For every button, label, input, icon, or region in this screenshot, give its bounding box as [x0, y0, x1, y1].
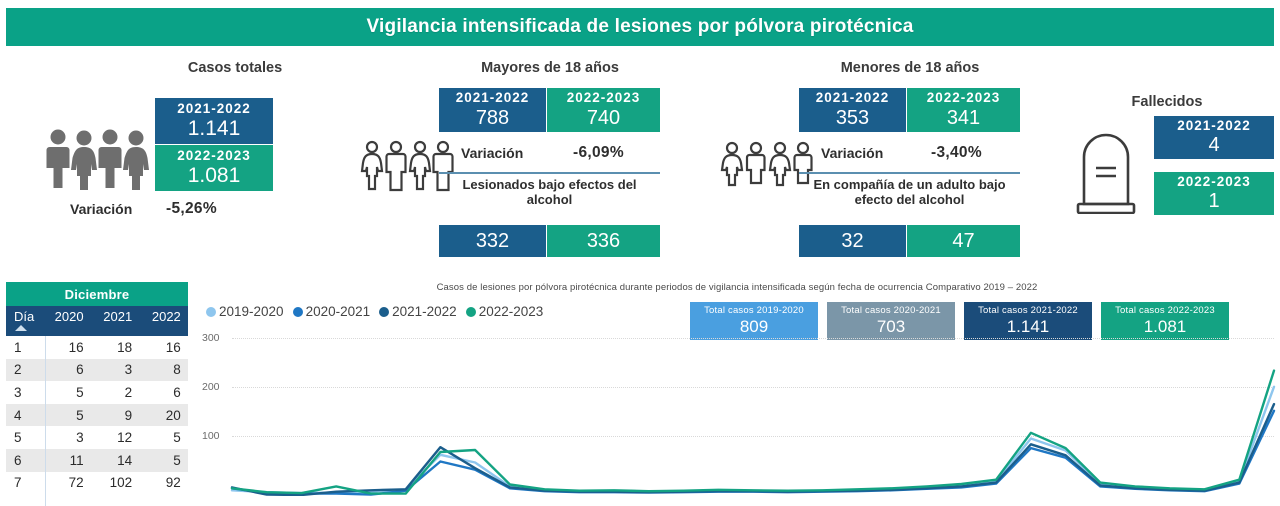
period-value: 788: [476, 107, 509, 130]
mayores-alcohol-2022-2023: 336: [547, 225, 660, 257]
chart-legend: 2019-2020 2020-2021 2021-2022 2022-2023: [206, 304, 543, 319]
cell-dia: 3: [6, 385, 42, 400]
table-column-header-2022[interactable]: 2022: [139, 309, 188, 324]
casos-totales-variation-label: Variación: [70, 201, 132, 217]
table-month-title: Diciembre: [6, 282, 188, 306]
table-column-header-2021[interactable]: 2021: [91, 309, 140, 324]
sort-ascending-icon: [15, 325, 27, 331]
cell-2021: 18: [91, 340, 140, 355]
kpi-total-2020-2021[interactable]: Total casos 2020-2021 703: [827, 302, 955, 340]
diciembre-table: Diciembre Día 2020 2021 2022 1 16 18 16 …: [6, 282, 188, 494]
cell-2021: 102: [91, 475, 140, 490]
fallecidos-block-2022-2023: 2022-2023 1: [1154, 172, 1274, 215]
casos-totales-variation-value: -5,26%: [166, 200, 217, 218]
kpi-label: Total casos 2022-2023: [1115, 306, 1215, 316]
legend-swatch-icon: [466, 307, 476, 317]
period-label: 2021-2022: [456, 90, 530, 106]
casos-totales-title: Casos totales: [100, 60, 370, 76]
mayores-divider: [439, 172, 660, 174]
cell-dia: 2: [6, 362, 42, 377]
table-row[interactable]: 3 5 2 6: [6, 381, 188, 404]
dashboard-header: Vigilancia intensificada de lesiones por…: [6, 8, 1274, 46]
cell-2020: 72: [42, 475, 91, 490]
kpi-label: Total casos 2020-2021: [841, 306, 941, 316]
period-value: 353: [836, 107, 869, 130]
series-2020-2021: [232, 411, 1274, 495]
period-value: 1.141: [188, 117, 241, 141]
menores-variation-value: -3,40%: [931, 144, 982, 162]
period-label: 2021-2022: [816, 90, 890, 106]
legend-swatch-icon: [379, 307, 389, 317]
series-2022-2023: [232, 371, 1274, 494]
cell-dia: 7: [6, 475, 42, 490]
dashboard-page: Vigilancia intensificada de lesiones por…: [0, 0, 1280, 496]
series-2021-2022: [232, 404, 1274, 495]
period-label: 2022-2023: [1177, 174, 1251, 190]
tombstone-icon: [1070, 124, 1142, 219]
table-row[interactable]: 2 6 3 8: [6, 359, 188, 382]
four-people-icon: [42, 128, 150, 195]
table-column-header-dia[interactable]: Día: [6, 309, 42, 324]
cell-2022: 6: [139, 385, 188, 400]
cell-dia: 4: [6, 408, 42, 423]
legend-label: 2020-2021: [306, 304, 371, 319]
period-label: 2021-2022: [1177, 118, 1251, 134]
period-value: 740: [587, 107, 620, 130]
legend-label: 2019-2020: [219, 304, 284, 319]
legend-item-2020-2021[interactable]: 2020-2021: [293, 304, 371, 319]
fallecidos-block-2021-2022: 2021-2022 4: [1154, 116, 1274, 159]
legend-swatch-icon: [206, 307, 216, 317]
kpi-total-2022-2023[interactable]: Total casos 2022-2023 1.081: [1101, 302, 1229, 340]
mayores-block-2021-2022: 2021-2022 788: [439, 88, 546, 132]
kpi-label: Total casos 2019-2020: [704, 306, 804, 316]
period-value: 341: [947, 107, 980, 130]
period-value: 1: [1208, 190, 1219, 213]
menores-divider: [799, 172, 1020, 174]
legend-swatch-icon: [293, 307, 303, 317]
cell-2020: 5: [42, 385, 91, 400]
cell-2020: 6: [42, 362, 91, 377]
menores-block-2022-2023: 2022-2023 341: [907, 88, 1020, 132]
cell-2022: 16: [139, 340, 188, 355]
kpi-label: Total casos 2021-2022: [978, 306, 1078, 316]
legend-label: 2022-2023: [479, 304, 544, 319]
cell-2020: 3: [42, 430, 91, 445]
legend-item-2022-2023[interactable]: 2022-2023: [466, 304, 544, 319]
menores-variation-label: Variación: [821, 145, 883, 161]
table-row[interactable]: 4 5 9 20: [6, 404, 188, 427]
series-2019-2020: [232, 387, 1274, 493]
table-row[interactable]: 7 72 102 92: [6, 472, 188, 495]
cell-2021: 9: [91, 408, 140, 423]
mayores-alcohol-2021-2022: 332: [439, 225, 546, 257]
kpi-value: 1.081: [1144, 317, 1187, 337]
period-value: 1.081: [188, 164, 241, 188]
table-header-row: Día 2020 2021 2022: [6, 306, 188, 336]
table-column-header-2020[interactable]: 2020: [42, 309, 91, 324]
table-row[interactable]: 5 3 12 5: [6, 426, 188, 449]
value: 47: [952, 230, 974, 253]
cell-dia: 6: [6, 453, 42, 468]
page-title: Vigilancia intensificada de lesiones por…: [367, 16, 914, 38]
casos-totales-block-2022-2023: 2022-2023 1.081: [155, 145, 273, 191]
menores-sub-title: En compañía de un adulto bajo efecto del…: [793, 178, 1026, 207]
period-label: 2022-2023: [177, 148, 251, 164]
table-column-divider: [45, 336, 46, 506]
fallecidos-title: Fallecidos: [1060, 94, 1274, 110]
table-row[interactable]: 1 16 18 16: [6, 336, 188, 359]
period-label: 2022-2023: [927, 90, 1001, 106]
column-label: Día: [14, 309, 34, 324]
cell-2022: 20: [139, 408, 188, 423]
kpi-total-2019-2020[interactable]: Total casos 2019-2020 809: [690, 302, 818, 340]
cell-2020: 5: [42, 408, 91, 423]
chart-plot-area: 300 200 100: [196, 338, 1278, 496]
chart-title: Casos de lesiones por pólvora pirotécnic…: [196, 282, 1278, 293]
menores-alcohol-2022-2023: 47: [907, 225, 1020, 257]
menores-block-2021-2022: 2021-2022 353: [799, 88, 906, 132]
period-label: 2021-2022: [177, 101, 251, 117]
kpi-value: 1.141: [1007, 317, 1050, 337]
period-label: 2022-2023: [567, 90, 641, 106]
cell-2020: 16: [42, 340, 91, 355]
line-chart: Casos de lesiones por pólvora pirotécnic…: [196, 276, 1278, 496]
kpi-value: 809: [740, 317, 768, 337]
kpi-total-2021-2022[interactable]: Total casos 2021-2022 1.141: [964, 302, 1092, 340]
chart-series-svg: [196, 338, 1278, 496]
cell-2022: 5: [139, 430, 188, 445]
legend-item-2021-2022[interactable]: 2021-2022: [379, 304, 457, 319]
chart-kpi-row: Total casos 2019-2020 809 Total casos 20…: [690, 302, 1229, 340]
cell-2022: 8: [139, 362, 188, 377]
menores-alcohol-2021-2022: 32: [799, 225, 906, 257]
cell-2021: 3: [91, 362, 140, 377]
mayores-title: Mayores de 18 años: [415, 60, 685, 76]
mayores-block-2022-2023: 2022-2023 740: [547, 88, 660, 132]
cell-2021: 14: [91, 453, 140, 468]
legend-item-2019-2020[interactable]: 2019-2020: [206, 304, 284, 319]
mayores-sub-title: Lesionados bajo efectos del alcohol: [439, 178, 660, 207]
period-value: 4: [1208, 134, 1219, 157]
cell-dia: 5: [6, 430, 42, 445]
casos-totales-block-2021-2022: 2021-2022 1.141: [155, 98, 273, 144]
cell-2022: 5: [139, 453, 188, 468]
value: 332: [476, 230, 509, 253]
value: 336: [587, 230, 620, 253]
kpi-value: 703: [877, 317, 905, 337]
cell-2021: 12: [91, 430, 140, 445]
cell-2022: 92: [139, 475, 188, 490]
menores-title: Menores de 18 años: [775, 60, 1045, 76]
mayores-variation-value: -6,09%: [573, 144, 624, 162]
mayores-variation-label: Variación: [461, 145, 523, 161]
table-row[interactable]: 6 11 14 5: [6, 449, 188, 472]
value: 32: [841, 230, 863, 253]
cell-2021: 2: [91, 385, 140, 400]
cell-dia: 1: [6, 340, 42, 355]
legend-label: 2021-2022: [392, 304, 457, 319]
cell-2020: 11: [42, 453, 91, 468]
